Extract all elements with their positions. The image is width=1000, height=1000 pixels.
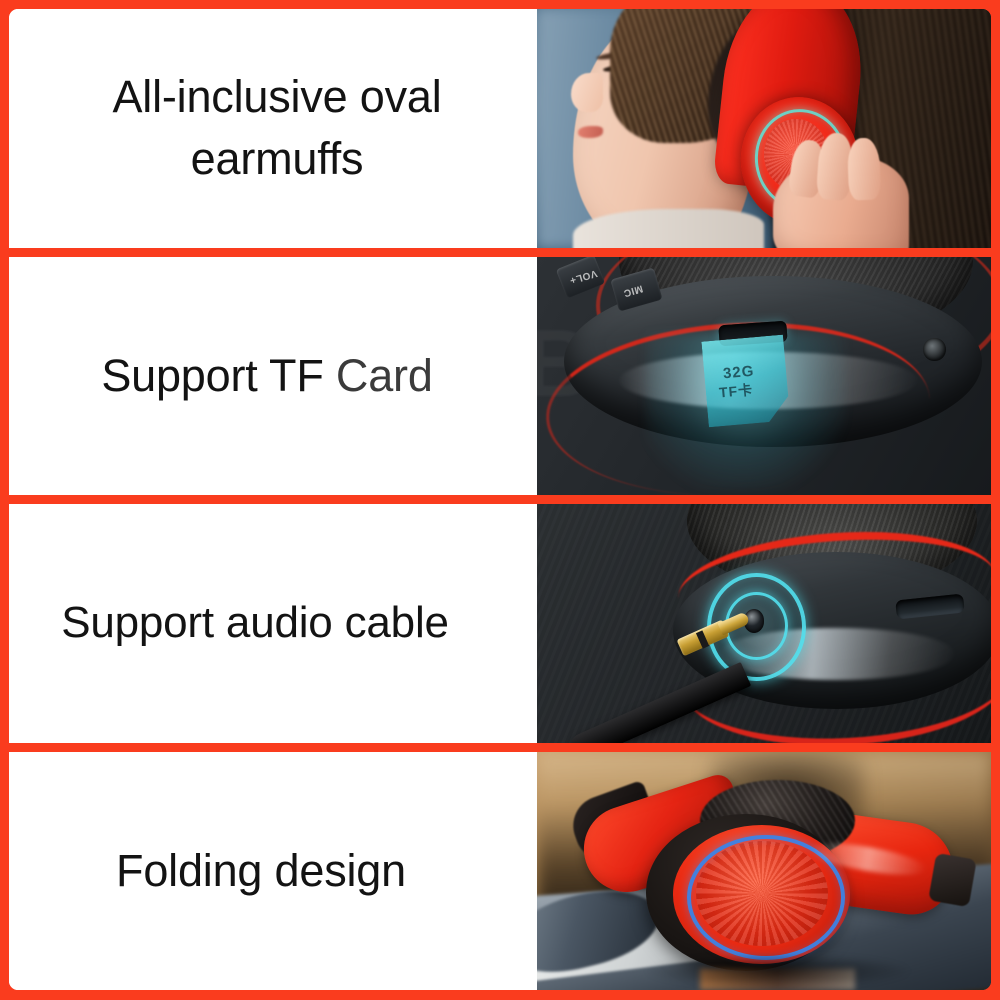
feature-label-2-line-2: Card [336,350,433,401]
feature-label-cell-2: Support TF Card [9,257,537,496]
photo-folded-headphones [537,752,991,991]
row-divider-2 [9,495,991,504]
row-divider-3 [9,743,991,752]
feature-label-1-line-2: earmuffs [191,133,364,184]
poster: All-inclusive oval earmuffs [0,0,1000,1000]
feature-label-1-line-1: All-inclusive oval [112,71,441,122]
feature-row-earmuffs: All-inclusive oval earmuffs [9,9,991,248]
photo-tf-card-slot: BT VOL+ MIC 32G TF卡 [537,257,991,496]
photo1-finger [847,137,881,200]
feature-label-cell-4: Folding design [9,752,537,991]
feature-row-folding-design: Folding design [9,752,991,991]
row-divider-1 [9,248,991,257]
photo-woman-wearing-headphones [537,9,991,248]
photo2-card-type-label: TF卡 [718,379,754,402]
feature-label-cell-3: Support audio cable [9,504,537,743]
feature-photo-cell-1 [537,9,991,248]
feature-label-2-line-1: Support TF [101,350,323,401]
photo-audio-cable-jack [537,504,991,743]
feature-row-audio-cable: Support audio cable [9,504,991,743]
feature-photo-cell-4 [537,752,991,991]
feature-label-3: Support audio cable [35,593,475,654]
poster-inner: All-inclusive oval earmuffs [9,9,991,990]
photo4-arm-tip [928,853,977,907]
feature-row-tf-card: Support TF Card BT VOL+ MIC [9,257,991,496]
feature-label-1: All-inclusive oval earmuffs [78,66,467,190]
feature-label-4: Folding design [90,840,432,902]
photo1-nose [571,73,603,111]
feature-label-cell-1: All-inclusive oval earmuffs [9,9,537,248]
feature-label-2: Support TF Card [75,345,458,407]
photo1-lips [578,126,603,138]
photo4-drop-shadow [646,954,909,987]
photo2-aux-port [923,338,946,362]
feature-photo-cell-2: BT VOL+ MIC 32G TF卡 [537,257,991,496]
feature-photo-cell-3 [537,504,991,743]
